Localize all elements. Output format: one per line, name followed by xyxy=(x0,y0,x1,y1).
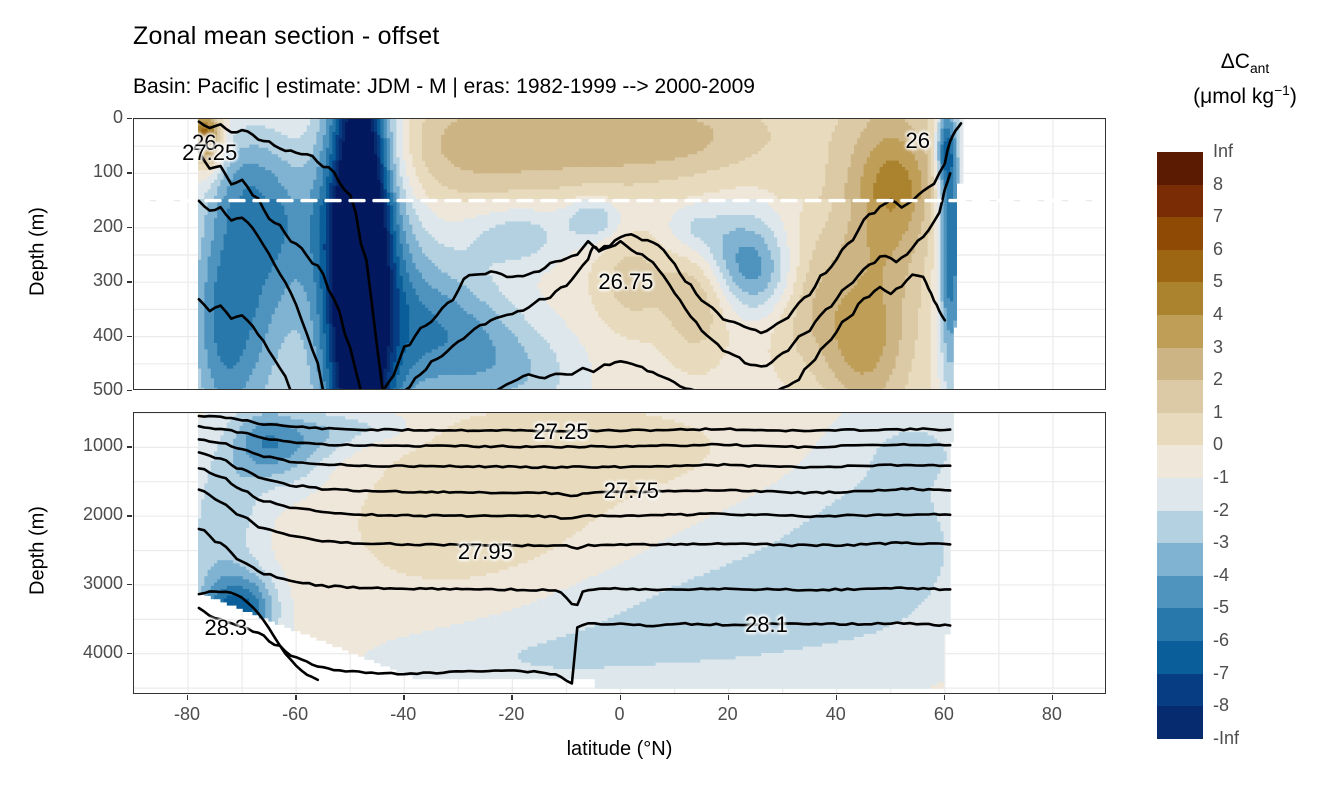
x-axis-label: latitude (°N) xyxy=(133,738,1106,761)
x-tick-mark xyxy=(295,695,296,700)
contour-label-upper: 26.75 xyxy=(598,269,653,295)
colorbar-swatch xyxy=(1157,217,1203,250)
y-tick-mark-upper xyxy=(127,172,132,173)
y-tick-label-upper: 400 xyxy=(71,325,123,346)
y-tick-label-lower: 2000 xyxy=(61,504,123,525)
colorbar-tick-label: 8 xyxy=(1213,174,1223,195)
colorbar-tick-label: -6 xyxy=(1213,630,1229,651)
y-axis-label-lower: Depth (m) xyxy=(27,491,50,611)
y-tick-mark-upper xyxy=(127,336,132,337)
y-tick-mark-upper xyxy=(127,281,132,282)
colorbar-swatch xyxy=(1157,674,1203,707)
y-tick-label-upper: 500 xyxy=(71,379,123,400)
contour-label-lower: 27.25 xyxy=(534,419,589,445)
legend-title-variable: ΔCant xyxy=(1160,50,1330,76)
x-tick-mark xyxy=(620,695,621,700)
colorbar-swatch xyxy=(1157,315,1203,348)
page-subtitle: Basin: Pacific | estimate: JDM - M | era… xyxy=(133,75,755,99)
y-tick-label-upper: 300 xyxy=(71,270,123,291)
x-tick-mark xyxy=(403,695,404,700)
colorbar-tick-label: -Inf xyxy=(1213,728,1239,749)
colorbar-tick-label: -5 xyxy=(1213,597,1229,618)
y-axis-label-upper: Depth (m) xyxy=(27,192,50,312)
colorbar-tick-label: -4 xyxy=(1213,565,1229,586)
colorbar-swatch xyxy=(1157,348,1203,381)
colorbar-swatch xyxy=(1157,152,1203,185)
colorbar-tick-label: 1 xyxy=(1213,402,1223,423)
y-tick-label-lower: 4000 xyxy=(61,642,123,663)
colorbar-tick-label: -7 xyxy=(1213,663,1229,684)
colorbar-swatch xyxy=(1157,543,1203,576)
y-tick-label-upper: 100 xyxy=(71,161,123,182)
colorbar-swatch xyxy=(1157,641,1203,674)
colorbar-swatch xyxy=(1157,478,1203,511)
colorbar-tick-label: 7 xyxy=(1213,206,1223,227)
y-tick-label-upper: 0 xyxy=(71,107,123,128)
colorbar-tick-label: -8 xyxy=(1213,695,1229,716)
legend-units-superscript: −1 xyxy=(1274,82,1290,98)
page-title: Zonal mean section - offset xyxy=(133,22,440,51)
colorbar-tick-label: -1 xyxy=(1213,467,1229,488)
y-tick-mark-lower xyxy=(127,446,132,447)
legend-title-units: (μmol kg−1) xyxy=(1150,82,1340,109)
y-tick-mark-upper xyxy=(127,390,132,391)
upper-depth-panel: 2627.2526.7526 xyxy=(133,118,1106,390)
colorbar-tick-label: 6 xyxy=(1213,239,1223,260)
x-tick-mark xyxy=(187,695,188,700)
colorbar-tick-label: -3 xyxy=(1213,532,1229,553)
colorbar-swatch xyxy=(1157,445,1203,478)
x-tick-mark xyxy=(511,695,512,700)
colorbar-swatch xyxy=(1157,282,1203,315)
colorbar-swatch xyxy=(1157,250,1203,283)
x-tick-label: -20 xyxy=(481,704,541,725)
colorbar-swatch xyxy=(1157,608,1203,641)
x-tick-label: -40 xyxy=(373,704,433,725)
y-tick-label-lower: 1000 xyxy=(61,435,123,456)
contour-field xyxy=(134,119,1106,390)
y-tick-mark-upper xyxy=(127,227,132,228)
x-tick-mark xyxy=(944,695,945,700)
y-tick-mark-lower xyxy=(127,515,132,516)
y-tick-label-lower: 3000 xyxy=(61,573,123,594)
colorbar-swatch xyxy=(1157,380,1203,413)
contour-label-lower: 27.75 xyxy=(604,478,659,504)
colorbar-tick-label: 0 xyxy=(1213,434,1223,455)
x-tick-label: 0 xyxy=(590,704,650,725)
colorbar-swatch xyxy=(1157,511,1203,544)
colorbar-tick-label: 2 xyxy=(1213,369,1223,390)
contour-label-upper: 26 xyxy=(906,128,930,154)
lower-depth-panel: 27.2527.7527.9528.328.1 xyxy=(133,412,1106,694)
y-tick-mark-upper xyxy=(127,118,132,119)
y-tick-mark-lower xyxy=(127,584,132,585)
colorbar-tick-label: 4 xyxy=(1213,304,1223,325)
colorbar xyxy=(1157,152,1203,739)
x-tick-mark xyxy=(836,695,837,700)
x-tick-label: 60 xyxy=(914,704,974,725)
colorbar-tick-label: -2 xyxy=(1213,500,1229,521)
x-tick-label: 80 xyxy=(1022,704,1082,725)
y-tick-label-upper: 200 xyxy=(71,216,123,237)
x-tick-mark xyxy=(1052,695,1053,700)
contour-label-lower: 28.1 xyxy=(745,612,788,638)
y-tick-mark-lower xyxy=(127,653,132,654)
contour-label-upper: 27.25 xyxy=(182,140,237,166)
colorbar-swatch xyxy=(1157,185,1203,218)
contour-label-lower: 28.3 xyxy=(204,615,247,641)
x-tick-label: -80 xyxy=(157,704,217,725)
colorbar-swatch xyxy=(1157,413,1203,446)
x-tick-mark xyxy=(728,695,729,700)
colorbar-tick-label: 5 xyxy=(1213,271,1223,292)
contour-field xyxy=(134,413,1106,694)
x-tick-label: 20 xyxy=(698,704,758,725)
x-tick-label: 40 xyxy=(806,704,866,725)
legend-title-subscript: ant xyxy=(1250,60,1269,76)
colorbar-tick-label: 3 xyxy=(1213,337,1223,358)
contour-label-lower: 27.95 xyxy=(458,539,513,565)
colorbar-tick-label: Inf xyxy=(1213,141,1233,162)
colorbar-swatch xyxy=(1157,706,1203,739)
x-tick-label: -60 xyxy=(265,704,325,725)
colorbar-swatch xyxy=(1157,576,1203,609)
